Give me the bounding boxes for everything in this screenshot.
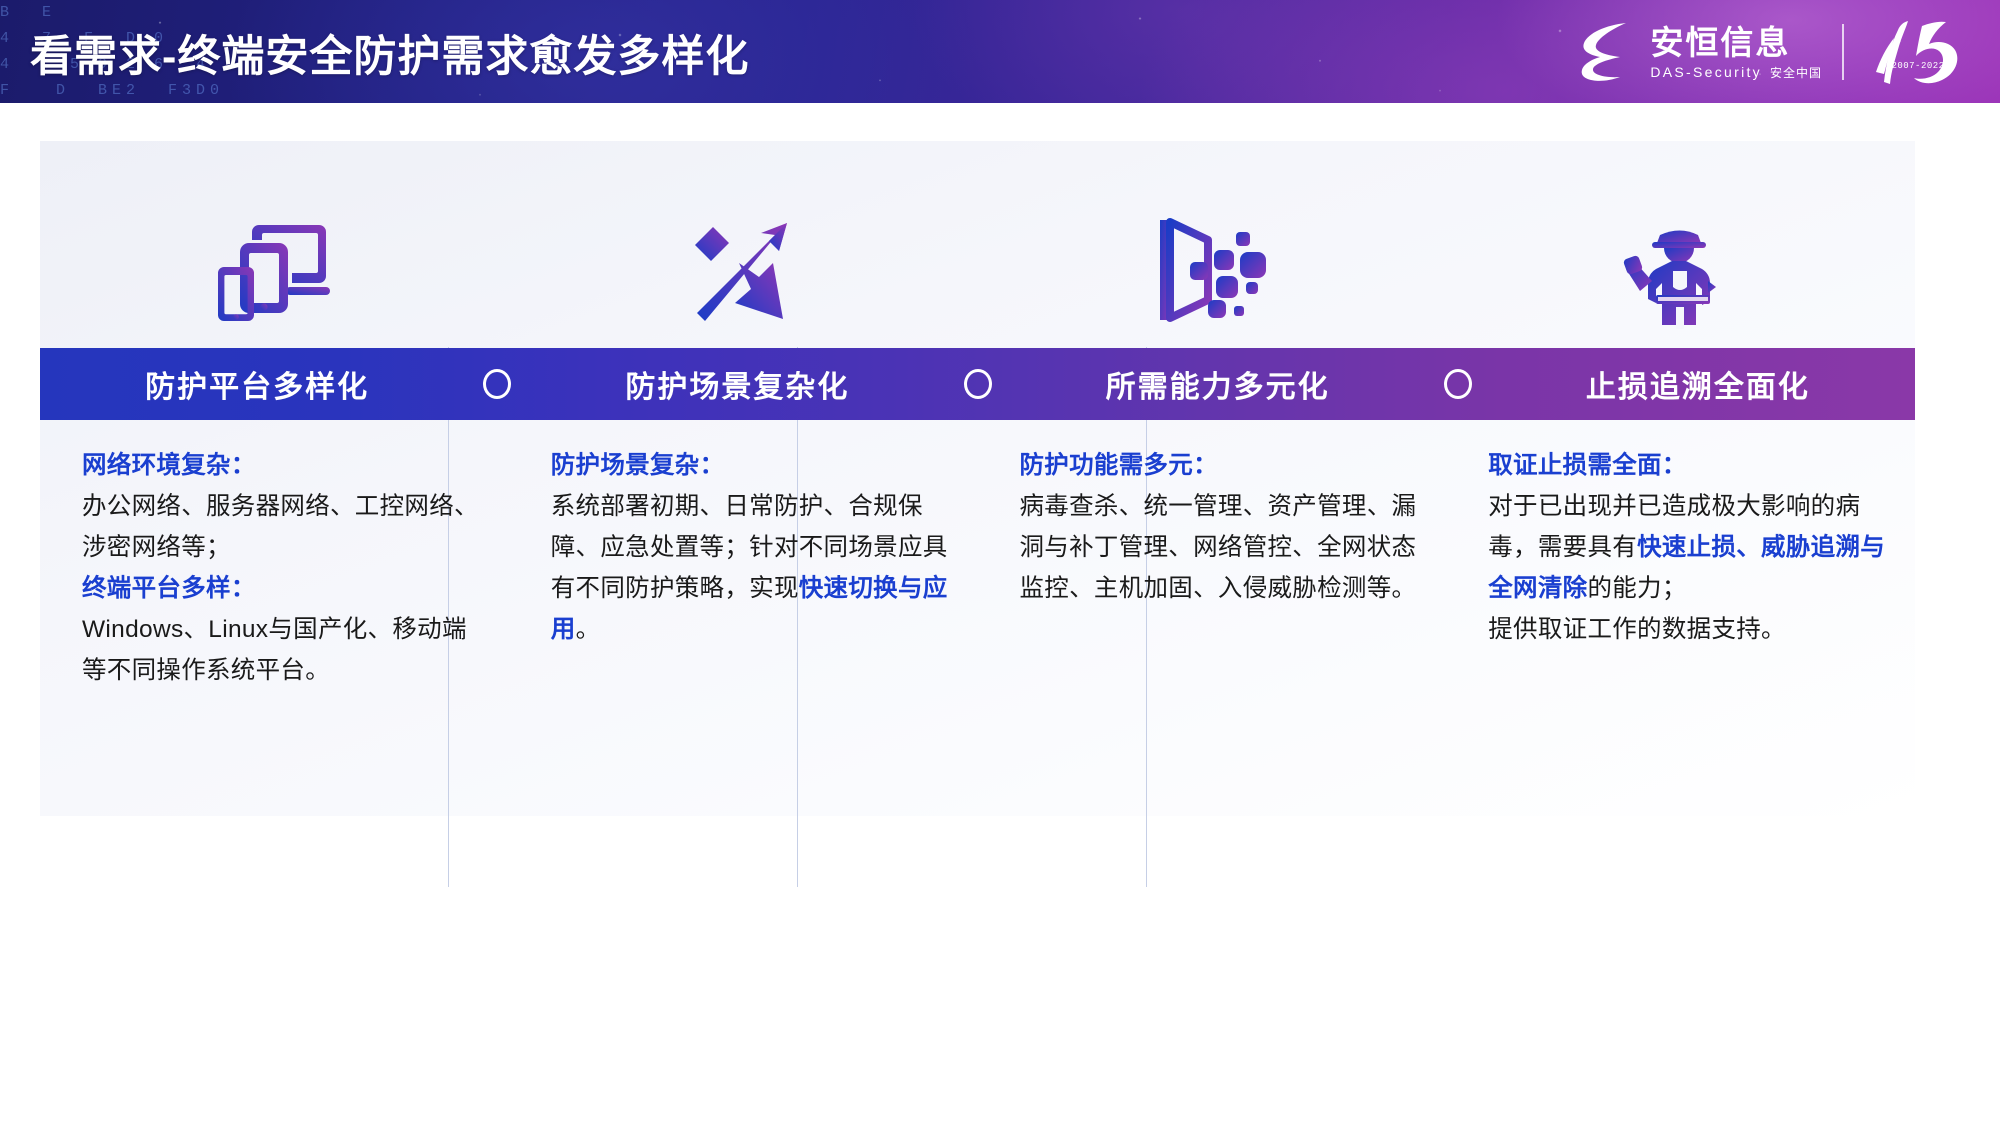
- anniversary-years: 2007-2022: [1891, 61, 1944, 71]
- lead-label: 防护场景复杂: [551, 452, 700, 479]
- lead-label: 终端平台多样: [82, 575, 231, 602]
- lead-colon: ：: [700, 452, 725, 479]
- body-text: 提供取证工作的数据支持。: [1488, 616, 1786, 643]
- description-row: 网络环境复杂：办公网络、服务器网络、工控网络、涉密网络等； 终端平台多样：Win…: [40, 445, 1915, 745]
- body-text: 病毒查杀、统一管理、资产管理、漏洞与补丁管理、网络管控、全网状态监控、主机加固、…: [1020, 493, 1417, 602]
- brand-mark: 安恒信息 DAS-Security 安全中国: [1576, 19, 1822, 85]
- brand-name-en: DAS-Security: [1650, 65, 1762, 79]
- icon-cell-1: [40, 190, 509, 350]
- circle-ring-icon: [1444, 369, 1472, 399]
- lead-colon: ：: [231, 452, 256, 479]
- anniversary-mark: 2007-2022: [1864, 16, 1972, 88]
- description-block-3-1: 防护功能需多元：病毒查杀、统一管理、资产管理、漏洞与补丁管理、网络管控、全网状态…: [1020, 445, 1421, 609]
- lead-label: 网络环境复杂: [82, 452, 231, 479]
- description-cell-1: 网络环境复杂：办公网络、服务器网络、工控网络、涉密网络等； 终端平台多样：Win…: [40, 445, 509, 745]
- police-officer-icon: [1622, 211, 1740, 329]
- description-block-4-2: 提供取证工作的数据支持。: [1488, 609, 1889, 650]
- description-cell-3: 防护功能需多元：病毒查杀、统一管理、资产管理、漏洞与补丁管理、网络管控、全网状态…: [978, 445, 1447, 745]
- anniversary-15-icon: 2007-2022: [1864, 16, 1972, 88]
- lead-label: 防护功能需多元: [1020, 452, 1194, 479]
- brand-name-en-row: DAS-Security 安全中国: [1650, 65, 1822, 79]
- banner-separator-1: [474, 369, 520, 399]
- circle-ring-icon: [964, 369, 992, 399]
- brand-name-cn: 安恒信息: [1650, 26, 1822, 59]
- multi-device-icon: [214, 215, 334, 325]
- banner-separator-3: [1435, 369, 1481, 399]
- crossing-arrows-icon: [683, 215, 803, 325]
- lead-label: 取证止损需全面: [1488, 452, 1662, 479]
- icon-row: [40, 190, 1915, 350]
- icon-cell-2: [509, 190, 978, 350]
- category-banner: 防护平台多样化 防护场景复杂化 所需能力多元化 止损追溯全面化: [40, 348, 1915, 420]
- body-text-tail: 的能力；: [1587, 575, 1686, 602]
- brand-text: 安恒信息 DAS-Security 安全中国: [1650, 26, 1822, 79]
- banner-separator-2: [955, 369, 1001, 399]
- circle-ring-icon: [483, 369, 511, 399]
- description-block-2-1: 防护场景复杂：系统部署初期、日常防护、合规保障、应急处置等；针对不同场景应具有不…: [551, 445, 952, 650]
- page-title: 看需求-终端安全防护需求愈发多样化: [30, 22, 749, 84]
- icon-cell-3: [978, 190, 1447, 350]
- description-block-1-1: 网络环境复杂：办公网络、服务器网络、工控网络、涉密网络等；: [82, 445, 483, 568]
- brand-logo-group: 安恒信息 DAS-Security 安全中国 2007-2022: [1576, 13, 1972, 91]
- icon-cell-4: [1446, 190, 1915, 350]
- description-cell-4: 取证止损需全面：对于已出现并已造成极大影响的病毒，需要具有快速止损、威胁追溯与全…: [1446, 445, 1915, 745]
- lead-colon: ：: [1662, 452, 1687, 479]
- description-block-4-1: 取证止损需全面：对于已出现并已造成极大影响的病毒，需要具有快速止损、威胁追溯与全…: [1488, 445, 1889, 609]
- banner-item-3[interactable]: 所需能力多元化: [1001, 362, 1435, 406]
- das-security-swoosh-icon: [1576, 19, 1638, 85]
- body-text: Windows、Linux与国产化、移动端等不同操作系统平台。: [82, 616, 467, 684]
- description-cell-2: 防护场景复杂：系统部署初期、日常防护、合规保障、应急处置等；针对不同场景应具有不…: [509, 445, 978, 745]
- lead-colon: ：: [1193, 452, 1218, 479]
- brand-divider: [1842, 24, 1844, 80]
- capability-shield-icon: [1152, 214, 1272, 326]
- lead-colon: ：: [231, 575, 256, 602]
- brand-tagline-cn: 安全中国: [1770, 67, 1822, 79]
- banner-item-2[interactable]: 防护场景复杂化: [520, 362, 954, 406]
- description-block-1-2: 终端平台多样：Windows、Linux与国产化、移动端等不同操作系统平台。: [82, 568, 483, 691]
- banner-item-4[interactable]: 止损追溯全面化: [1481, 362, 1915, 406]
- body-text: 办公网络、服务器网络、工控网络、涉密网络等；: [82, 493, 479, 561]
- banner-item-1[interactable]: 防护平台多样化: [40, 362, 474, 406]
- slide-header: B E 4 7 F D 0 4 5 9 2 6 4 F D BE2 F3D0 6…: [0, 0, 2000, 103]
- body-text-tail: 。: [576, 616, 601, 643]
